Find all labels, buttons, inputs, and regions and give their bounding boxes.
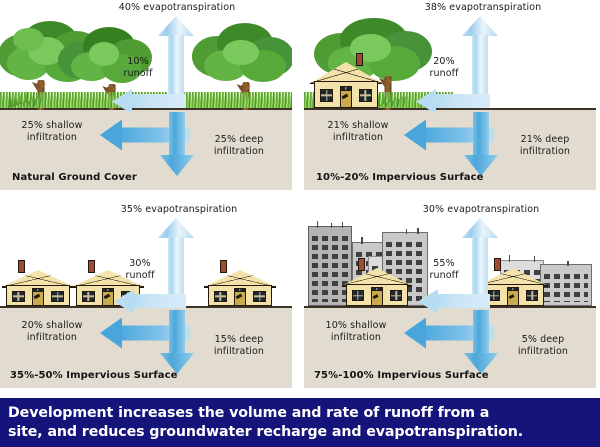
chimney [18, 260, 25, 273]
house-door [371, 290, 383, 306]
house-window [352, 290, 364, 301]
house-door [102, 291, 115, 306]
house-roof [310, 62, 382, 83]
house-window [359, 89, 372, 102]
panel-impervious-35-50: 35% evapotranspiration 30% runoff 20% sh… [0, 198, 292, 388]
house-icon [346, 268, 408, 306]
house-door [234, 291, 247, 306]
deep-infiltration-label: 25% deep infiltration [196, 134, 282, 157]
house-icon [314, 62, 378, 108]
house-icon [208, 270, 272, 306]
deep-infiltration-arrow [462, 310, 500, 374]
panel-title: 75%-100% Impervious Surface [314, 370, 489, 381]
caption-text: Development increases the volume and rat… [0, 404, 531, 442]
panel-natural-ground-cover: 40% evapotranspiration 10% runoff 25% sh… [0, 0, 292, 190]
evapotranspiration-label: 30% evapotranspiration [388, 204, 574, 216]
house-window [12, 291, 25, 302]
panel-title: 10%-20% Impervious Surface [316, 172, 484, 183]
shallow-infiltration-label: 25% shallow infiltration [6, 120, 98, 143]
deep-infiltration-label: 21% deep infiltration [502, 134, 588, 157]
house-window [82, 291, 95, 302]
runoff-arrow [114, 280, 186, 310]
caption-bar: Development increases the volume and rat… [0, 396, 600, 447]
house-roof [2, 270, 74, 287]
shallow-infiltration-label: 21% shallow infiltration [312, 120, 404, 143]
house-window [320, 89, 333, 102]
chimney [356, 53, 363, 66]
deep-infiltration-arrow [158, 310, 196, 374]
panel-title: 35%-50% Impervious Surface [10, 370, 178, 381]
house-icon [6, 270, 70, 306]
chimney [88, 260, 95, 273]
house-door [340, 90, 353, 108]
runoff-label: 55% runoff [414, 258, 474, 281]
runoff-arrow [112, 78, 186, 110]
house-roof [204, 270, 276, 287]
evapotranspiration-label: 38% evapotranspiration [390, 2, 576, 14]
deep-infiltration-arrow [158, 112, 196, 176]
house-door [32, 291, 45, 306]
runoff-label: 10% runoff [108, 56, 168, 79]
house-window [214, 291, 227, 302]
tree-crown [192, 22, 292, 92]
high-rise-building [540, 264, 592, 306]
house-window [253, 291, 266, 302]
water-cycle-diagram: 40% evapotranspiration 10% runoff 25% sh… [0, 0, 600, 447]
evapotranspiration-label: 40% evapotranspiration [86, 2, 268, 14]
runoff-label: 20% runoff [414, 56, 474, 79]
deep-infiltration-label: 15% deep infiltration [196, 334, 282, 357]
chimney [220, 260, 227, 273]
runoff-arrow [418, 280, 490, 310]
panel-title: Natural Ground Cover [12, 172, 137, 183]
house-roof [342, 268, 411, 285]
house-window [390, 290, 402, 301]
runoff-label: 30% runoff [110, 258, 170, 281]
panel-impervious-10-20: 38% evapotranspiration 20% runoff 21% sh… [304, 0, 596, 190]
shallow-infiltration-label: 10% shallow infiltration [310, 320, 402, 343]
house-window [526, 290, 538, 301]
evapotranspiration-label: 35% evapotranspiration [86, 204, 272, 216]
runoff-arrow [416, 78, 490, 110]
deep-infiltration-label: 5% deep infiltration [500, 334, 586, 357]
deep-infiltration-arrow [462, 112, 500, 176]
chimney [358, 258, 365, 271]
house-window [51, 291, 64, 302]
house-door [507, 290, 519, 306]
shallow-infiltration-label: 20% shallow infiltration [6, 320, 98, 343]
panel-impervious-75-100: 30% evapotranspiration 55% runoff 10% sh… [304, 198, 596, 388]
